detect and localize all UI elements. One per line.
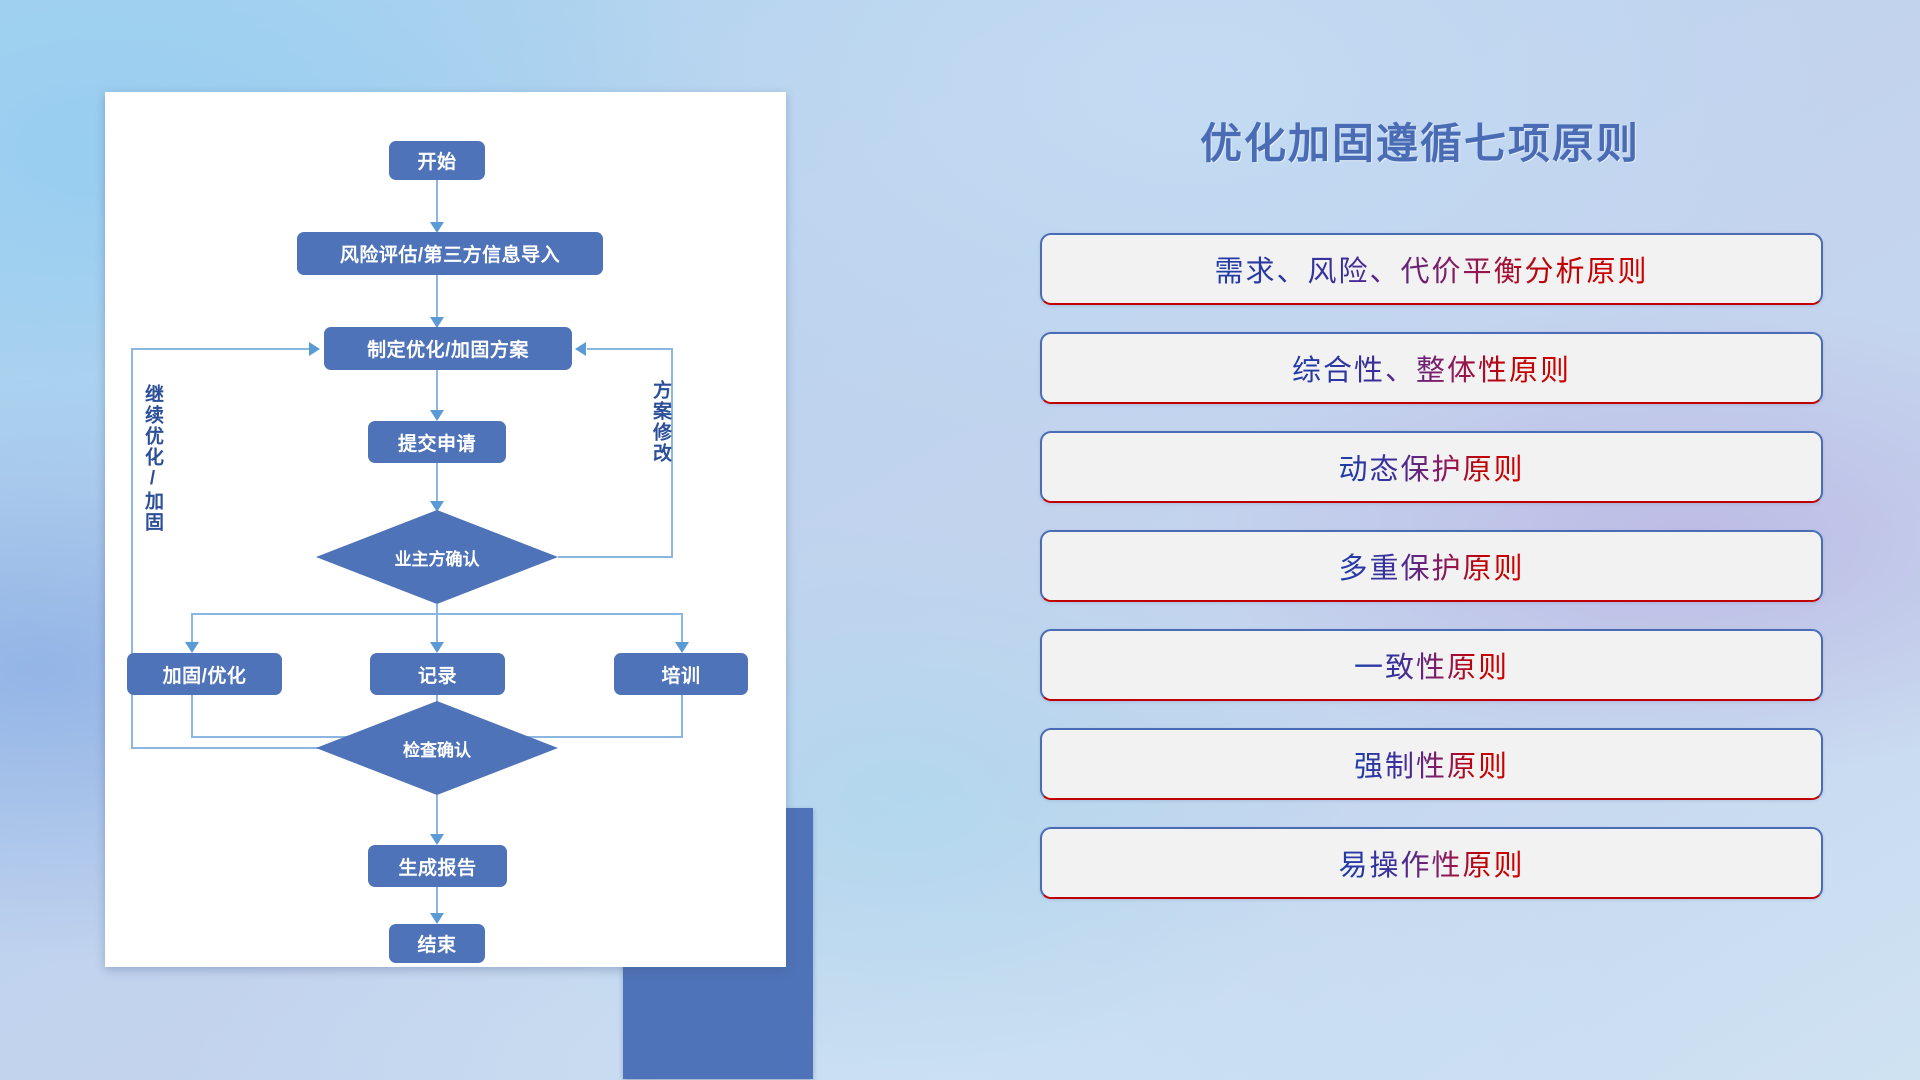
connector-owner-revise-v	[671, 348, 673, 558]
principle-item[interactable]: 多重保护原则	[1040, 530, 1823, 602]
flow-decision-check-confirm-label: 检查确认	[403, 736, 471, 761]
flow-node-generate-report[interactable]: 生成报告	[368, 845, 507, 887]
loop-label-plan-revision: 方案修改	[651, 380, 670, 464]
flow-decision-owner-confirm-label: 业主方确认	[395, 545, 480, 570]
principles-panel: 优化加固遵循七项原则 需求、风险、代价平衡分析原则 综合性、整体性原则 动态保护…	[1020, 0, 1850, 1080]
flow-node-start-label: 开始	[417, 147, 456, 174]
principle-label: 一致性原则	[1354, 644, 1509, 686]
principle-item[interactable]: 一致性原则	[1040, 629, 1823, 701]
flow-node-record-label: 记录	[418, 661, 457, 688]
principle-item[interactable]: 强制性原则	[1040, 728, 1823, 800]
connector-reinforce-down	[191, 695, 193, 738]
flow-node-training[interactable]: 培训	[614, 653, 748, 695]
flowchart-card: 开始 风险评估/第三方信息导入 制定优化/加固方案 提交申请	[105, 92, 786, 967]
connector-risk-plan	[436, 275, 438, 321]
principle-item[interactable]: 易操作性原则	[1040, 827, 1823, 899]
arrow-check-report	[430, 834, 444, 845]
principle-item[interactable]: 需求、风险、代价平衡分析原则	[1040, 233, 1823, 305]
principle-label: 综合性、整体性原则	[1292, 347, 1571, 389]
principle-label: 易操作性原则	[1338, 842, 1524, 884]
arrow-report-end	[430, 913, 444, 924]
flow-decision-check-confirm[interactable]: 检查确认	[316, 701, 558, 795]
connector-submit-owner	[436, 463, 438, 506]
flow-node-generate-report-label: 生成报告	[398, 853, 476, 880]
arrow-plan-submit	[430, 410, 444, 421]
flow-node-end[interactable]: 结束	[389, 924, 485, 963]
flow-node-reinforce-optimize-label: 加固/优化	[163, 661, 247, 688]
connector-check-report	[436, 795, 438, 839]
flow-decision-owner-confirm[interactable]: 业主方确认	[316, 510, 558, 604]
principles-list: 需求、风险、代价平衡分析原则 综合性、整体性原则 动态保护原则 多重保护原则 一…	[1040, 233, 1823, 926]
loop-label-continue-optimize: 继续优化/加固	[143, 384, 162, 533]
arrow-continue-to-plan	[309, 342, 320, 356]
flow-node-make-plan-label: 制定优化/加固方案	[367, 335, 529, 362]
connector-training-down	[681, 695, 683, 738]
arrow-revise-to-plan	[575, 342, 586, 356]
principle-item[interactable]: 动态保护原则	[1040, 431, 1823, 503]
flow-node-record[interactable]: 记录	[370, 653, 505, 695]
connector-plan-submit	[436, 370, 438, 415]
arrow-to-training	[675, 642, 689, 653]
flow-node-end-label: 结束	[417, 930, 456, 957]
principle-item[interactable]: 综合性、整体性原则	[1040, 332, 1823, 404]
connector-continue-opt-top-h	[131, 348, 311, 350]
arrow-to-record	[430, 642, 444, 653]
connector-owner-fanout	[191, 613, 683, 615]
connector-start-risk	[436, 180, 438, 226]
flow-node-risk-assessment-label: 风险评估/第三方信息导入	[340, 240, 560, 267]
slide-canvas: 开始 风险评估/第三方信息导入 制定优化/加固方案 提交申请	[0, 0, 1920, 1080]
arrow-to-reinforce	[185, 642, 199, 653]
principle-label: 强制性原则	[1354, 743, 1509, 785]
principle-label: 多重保护原则	[1338, 545, 1524, 587]
flow-node-make-plan[interactable]: 制定优化/加固方案	[324, 327, 572, 370]
flow-node-reinforce-optimize[interactable]: 加固/优化	[127, 653, 282, 695]
connector-owner-down	[436, 604, 438, 645]
panel-title: 优化加固遵循七项原则	[1020, 110, 1820, 171]
flow-node-submit-application[interactable]: 提交申请	[368, 421, 506, 463]
connector-revise-plan-h	[587, 348, 673, 350]
flow-node-start[interactable]: 开始	[389, 141, 485, 180]
flowchart-region: 开始 风险评估/第三方信息导入 制定优化/加固方案 提交申请	[105, 92, 805, 997]
connector-check-to-continue-h	[131, 747, 331, 749]
principle-label: 动态保护原则	[1338, 446, 1524, 488]
flow-node-training-label: 培训	[661, 661, 700, 688]
principle-label: 需求、风险、代价平衡分析原则	[1214, 248, 1648, 290]
flow-node-risk-assessment[interactable]: 风险评估/第三方信息导入	[297, 232, 603, 275]
flow-node-submit-application-label: 提交申请	[398, 429, 476, 456]
connector-owner-revise-h	[558, 556, 673, 558]
